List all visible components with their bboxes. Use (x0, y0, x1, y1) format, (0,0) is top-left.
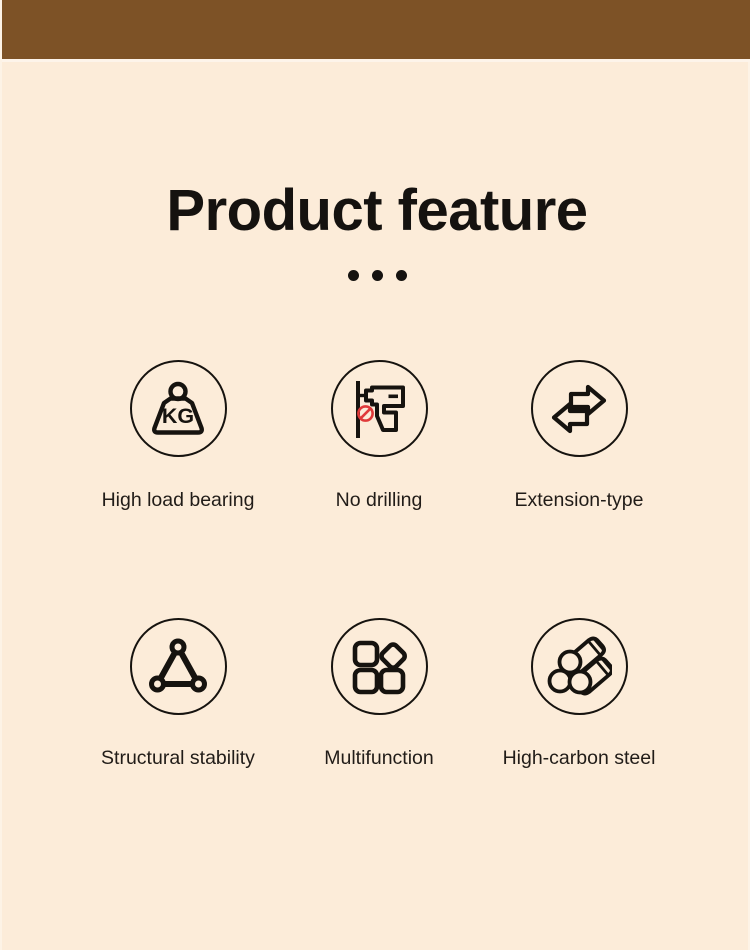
page-title: Product feature (2, 176, 750, 246)
dot-1 (348, 270, 359, 281)
feature-item-high-carbon-steel: High-carbon steel (479, 618, 679, 769)
dot-3 (396, 270, 407, 281)
feature-label: Multifunction (324, 747, 433, 769)
feature-label: Extension-type (515, 489, 644, 511)
feature-item-structural-stability: Structural stability (78, 618, 278, 769)
triangle-nodes-icon (130, 618, 227, 715)
feature-item-multifunction: Multifunction (279, 618, 479, 769)
feature-label: High load bearing (102, 489, 255, 511)
four-shapes-icon (331, 618, 428, 715)
feature-item-extension-type: Extension-type (479, 360, 679, 511)
dot-2 (372, 270, 383, 281)
feature-item-high-load-bearing: KG High load bearing (78, 360, 278, 511)
product-feature-page: Product feature KG High load bearing (0, 0, 750, 950)
feature-grid: KG High load bearing (2, 360, 750, 769)
title-dots-decoration (2, 270, 750, 281)
band-underline (2, 59, 750, 62)
prohibition-sign (358, 406, 372, 420)
no-drilling-icon (331, 360, 428, 457)
steel-bars-icon (531, 618, 628, 715)
top-brown-band (2, 0, 750, 59)
weight-icon-label: KG (162, 404, 194, 428)
feature-label: High-carbon steel (503, 747, 656, 769)
double-arrow-icon (531, 360, 628, 457)
feature-label: No drilling (336, 489, 423, 511)
weight-kg-icon: KG (130, 360, 227, 457)
feature-label: Structural stability (101, 747, 255, 769)
feature-row-1: KG High load bearing (2, 360, 750, 511)
feature-row-2: Structural stability Multifunction (2, 618, 750, 769)
feature-item-no-drilling: No drilling (279, 360, 479, 511)
